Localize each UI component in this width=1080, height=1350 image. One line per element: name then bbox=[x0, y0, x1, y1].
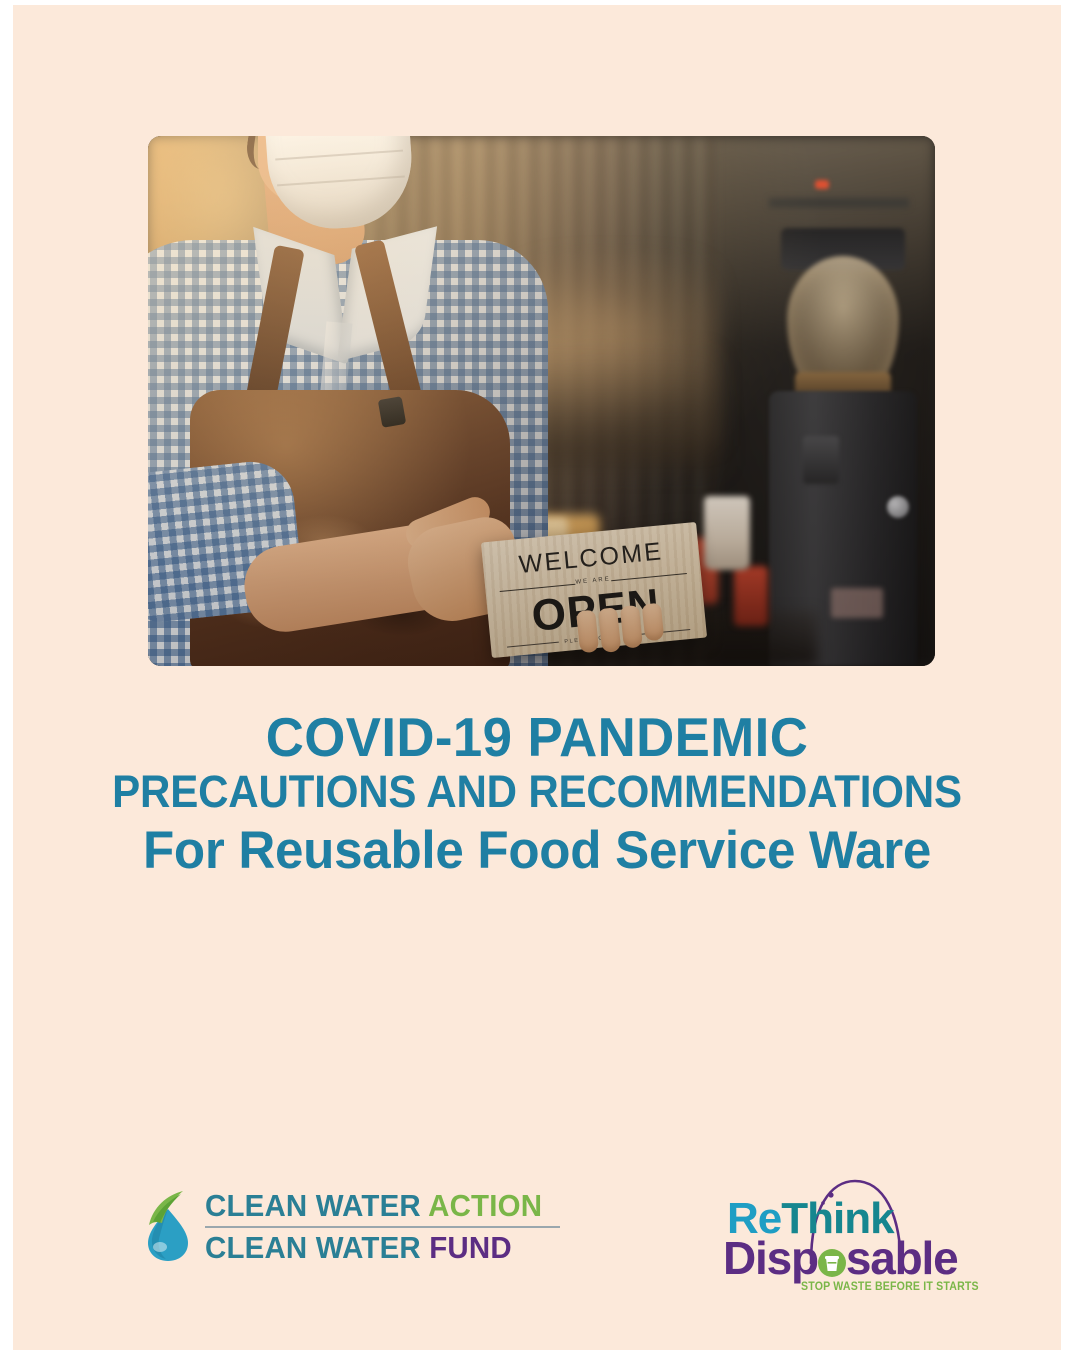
clean-water-text-top: CLEAN WATER bbox=[205, 1188, 428, 1223]
rethink-disposable-logo[interactable]: ReThink Disp sable STOP WASTE BEFORE IT … bbox=[719, 1173, 969, 1298]
mask-pleat bbox=[275, 150, 403, 161]
counter-paper-cup bbox=[704, 496, 750, 570]
page-title-line-3: For Reusable Food Service Ware bbox=[31, 820, 1042, 883]
disp-text: Disp bbox=[723, 1232, 818, 1284]
action-text: ACTION bbox=[428, 1188, 542, 1223]
finger bbox=[598, 607, 621, 653]
finger bbox=[620, 605, 643, 649]
cover-canvas: WELCOME WE ARE OPEN PLEASE COME IN bbox=[13, 5, 1061, 1350]
mask-pleat bbox=[277, 176, 405, 187]
grinder-shelf-line bbox=[769, 198, 909, 208]
rethink-tagline: STOP WASTE BEFORE IT STARTS bbox=[801, 1281, 979, 1293]
grinder-indicator-light bbox=[815, 180, 829, 189]
sable-text: sable bbox=[846, 1232, 958, 1284]
photo-stage: WELCOME WE ARE OPEN PLEASE COME IN bbox=[148, 136, 935, 666]
fund-text: FUND bbox=[429, 1230, 512, 1265]
logo-row: CLEAN WATER ACTION CLEAN WATER FUND ReTh… bbox=[13, 1171, 1061, 1301]
apron-buckle bbox=[378, 396, 406, 428]
clean-water-text-bottom: CLEAN WATER bbox=[205, 1230, 429, 1265]
page-title-line-1: COVID-19 PANDEMIC bbox=[34, 709, 1040, 765]
clean-water-action-line: CLEAN WATER ACTION bbox=[205, 1190, 542, 1221]
cover-page: WELCOME WE ARE OPEN PLEASE COME IN bbox=[0, 0, 1080, 1350]
grinder-label-badge bbox=[831, 588, 883, 618]
clean-water-fund-line: CLEAN WATER FUND bbox=[205, 1232, 542, 1263]
finger bbox=[642, 603, 665, 642]
cover-title-block: COVID-19 PANDEMIC PRECAUTIONS AND RECOMM… bbox=[13, 709, 1061, 883]
grinder-spout bbox=[803, 436, 839, 484]
counter-red-bottle bbox=[734, 566, 768, 626]
water-drop-leaf-icon bbox=[143, 1189, 193, 1263]
page-title-line-2: PRECAUTIONS AND RECOMMENDATIONS bbox=[47, 765, 1027, 820]
green-reusable-cup-icon bbox=[817, 1248, 847, 1278]
grinder-knob bbox=[887, 496, 909, 518]
disposable-wordmark: Disp sable bbox=[723, 1235, 958, 1281]
clean-water-action-logo[interactable]: CLEAN WATER ACTION CLEAN WATER FUND bbox=[143, 1189, 560, 1263]
clean-water-wordmark: CLEAN WATER ACTION CLEAN WATER FUND bbox=[205, 1190, 560, 1263]
hero-photo: WELCOME WE ARE OPEN PLEASE COME IN bbox=[148, 136, 935, 666]
wordmark-divider bbox=[205, 1226, 560, 1228]
finger bbox=[576, 610, 599, 654]
